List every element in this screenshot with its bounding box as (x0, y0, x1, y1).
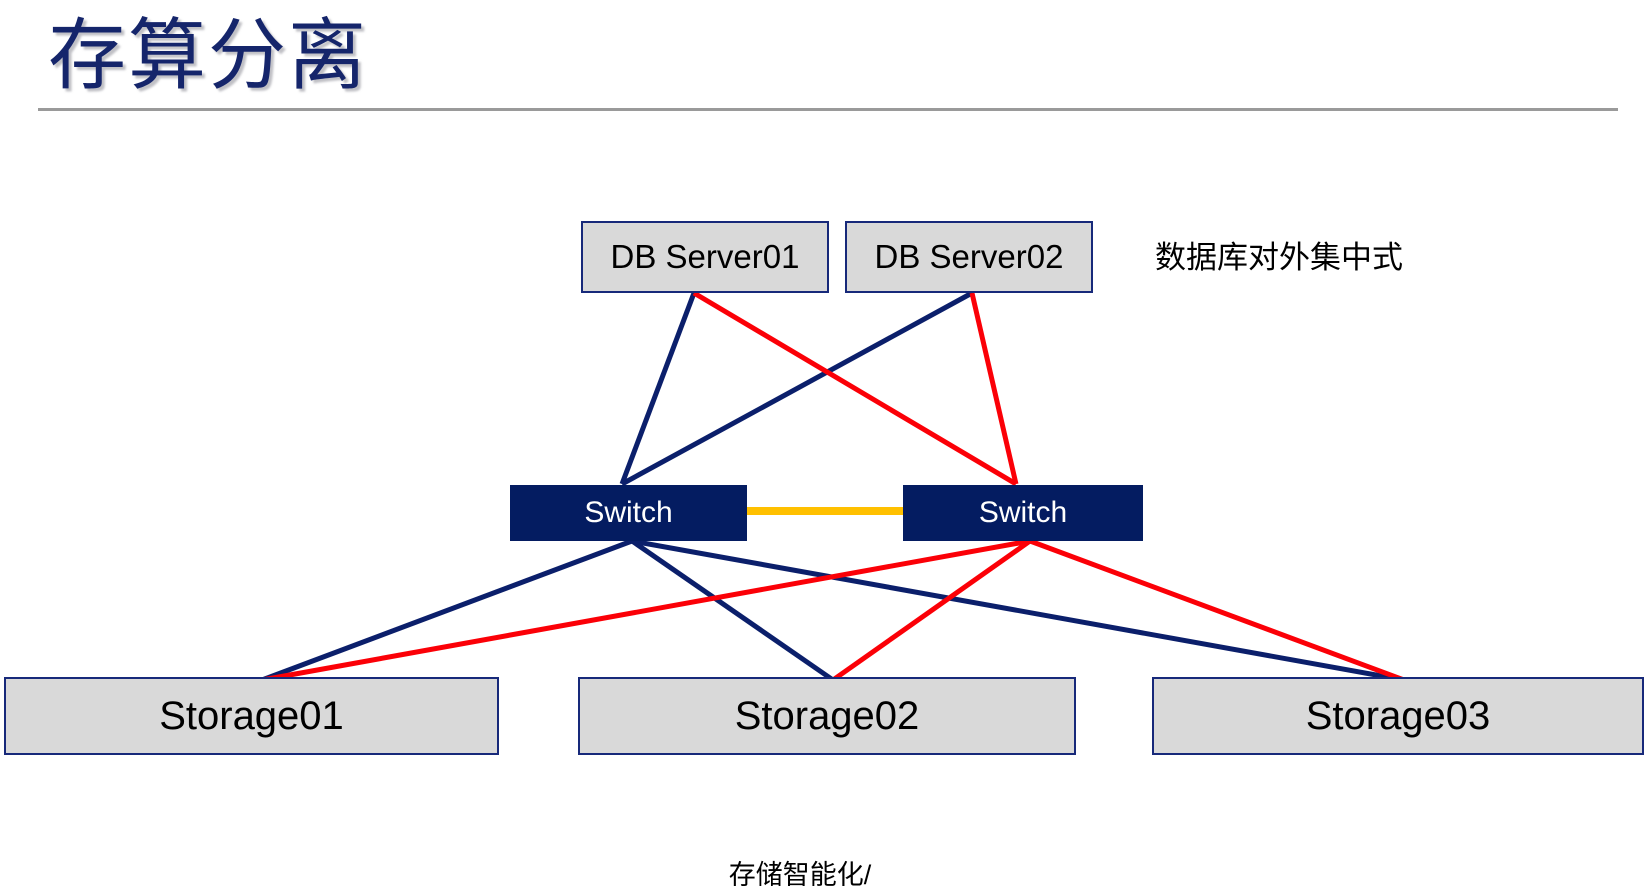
link-switch-right-storage01 (262, 541, 1030, 680)
link-db01-switch-right (694, 293, 1016, 484)
annotation-db-note: 数据库对外集中式 (1155, 238, 1403, 278)
node-label: Switch (584, 496, 672, 530)
node-label: Storage03 (1306, 694, 1491, 739)
node-label: Storage01 (159, 694, 344, 739)
link-switch-left-storage01 (262, 541, 632, 680)
node-label: DB Server01 (611, 238, 800, 276)
node-storage-03[interactable]: Storage03 (1152, 677, 1644, 755)
node-label: Storage02 (735, 694, 920, 739)
link-db02-switch-right (972, 293, 1016, 484)
link-switch-left-storage02 (632, 541, 833, 680)
annotation-storage-note: 存储智能化/ 分布式 (640, 780, 960, 886)
link-switch-left-storage03 (632, 541, 1404, 680)
link-switch-right-storage02 (833, 541, 1030, 680)
slide-canvas: 存算分离 DB Server01 DB Server02 Switch Swit… (0, 0, 1648, 886)
node-switch-left[interactable]: Switch (510, 485, 747, 541)
link-switch-right-storage03 (1030, 541, 1404, 680)
node-label: DB Server02 (875, 238, 1064, 276)
node-storage-02[interactable]: Storage02 (578, 677, 1076, 755)
node-db-server-01[interactable]: DB Server01 (581, 221, 829, 293)
annotation-storage-note-line1: 存储智能化/ (640, 856, 960, 886)
node-label: Switch (979, 496, 1067, 530)
node-storage-01[interactable]: Storage01 (4, 677, 499, 755)
node-switch-right[interactable]: Switch (903, 485, 1143, 541)
link-db01-switch-left (622, 293, 694, 484)
link-db02-switch-left (622, 293, 972, 484)
node-db-server-02[interactable]: DB Server02 (845, 221, 1093, 293)
